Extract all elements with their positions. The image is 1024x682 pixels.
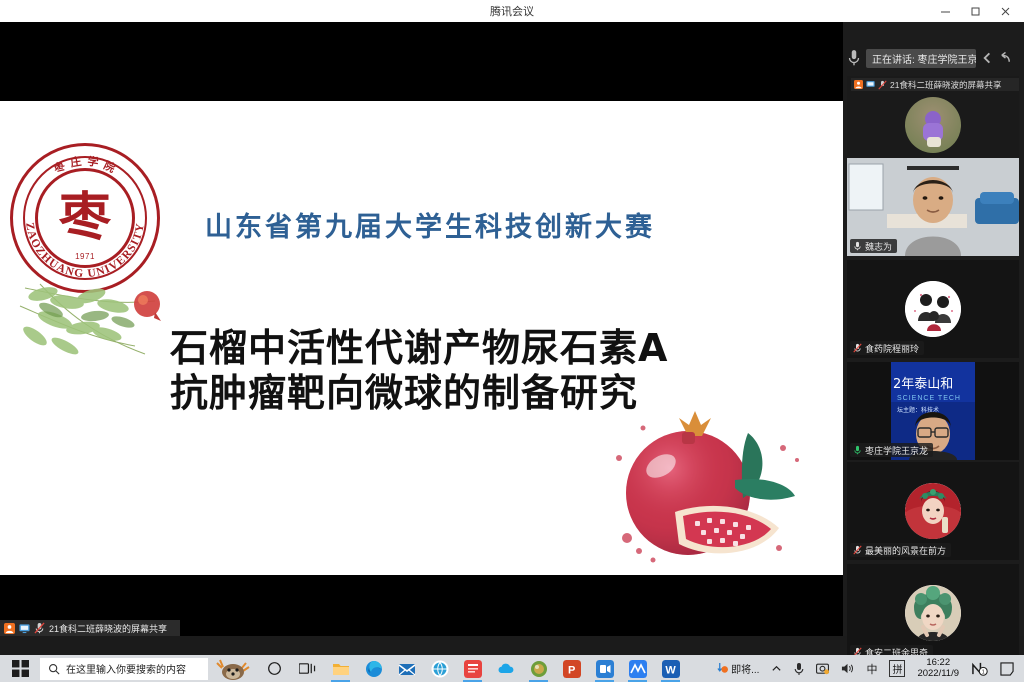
participant-name: 食药院程丽玲	[865, 342, 919, 355]
window-title-bar: 腾讯会议	[0, 0, 1024, 22]
slide-title-line-1: 石榴中活性代谢产物尿石素A	[170, 326, 668, 371]
tray-notice-text: 即将...	[731, 661, 759, 676]
avatar	[905, 585, 961, 641]
network-icon: 1	[971, 661, 988, 676]
meeting-body: ZAOZHUANG UNIVERSITY 枣 庄 学 院 枣 1971	[0, 22, 1024, 636]
taskbar-app-wps-office[interactable]	[456, 655, 489, 682]
search-placeholder: 在这里输入你要搜索的内容	[66, 661, 186, 676]
system-tray: 即将...	[711, 655, 1024, 682]
slide-title-line-2: 抗肿瘤靶向微球的制备研究	[170, 371, 668, 416]
window-controls	[930, 0, 1020, 22]
taskbar-app-mail[interactable]	[390, 655, 423, 682]
foliage-decoration	[0, 276, 185, 391]
window-title: 腾讯会议	[0, 3, 1024, 19]
taskbar-app-wechat-work[interactable]	[621, 655, 654, 682]
presentation-slide: ZAOZHUANG UNIVERSITY 枣 庄 学 院 枣 1971	[0, 101, 843, 575]
microphone-icon	[853, 445, 862, 455]
screenshot-icon	[816, 662, 829, 675]
taskbar-app-file-explorer[interactable]	[324, 655, 357, 682]
arrow-back-icon[interactable]	[999, 50, 1012, 66]
slide-subtitle: 山东省第九届大学生科技创新大赛	[205, 205, 655, 244]
participant-nametag: 魏志为	[850, 239, 897, 253]
close-button[interactable]	[990, 0, 1020, 22]
participant-nametag: 最美丽的风景在前方	[850, 543, 951, 557]
stage-share-indicator: 21食科二班薛晓波的屏幕共享	[0, 620, 180, 636]
participant-tile-active[interactable]: 2年泰山和 SCIENCE TECH 坛主题：科技术	[847, 362, 1019, 460]
speaker-icon	[841, 662, 854, 675]
avatar	[905, 97, 961, 153]
windows-logo-icon	[12, 660, 29, 677]
microphone-muted-icon	[853, 545, 862, 555]
taskbar-app-photo-viewer[interactable]	[522, 655, 555, 682]
participant-tile[interactable]: 最美丽的风景在前方	[847, 462, 1019, 560]
chevron-up-icon	[771, 663, 782, 674]
minimize-button[interactable]	[930, 0, 960, 22]
participant-name: 魏志为	[865, 240, 892, 253]
taskbar-app-tencent-meeting[interactable]	[588, 655, 621, 682]
clock-time: 16:22	[926, 658, 950, 669]
tray-ime-mode[interactable]: 中	[860, 655, 883, 682]
tray-ime-pinyin-label: 拼	[889, 660, 905, 677]
microphone-icon	[847, 49, 861, 67]
active-speaker-bar: 正在讲话: 枣庄学院王京龙	[843, 44, 1024, 72]
participant-rail: 正在讲话: 枣庄学院王京龙	[843, 22, 1024, 636]
svg-text:SCIENCE TECH: SCIENCE TECH	[897, 395, 961, 402]
microphone-muted-icon	[878, 80, 887, 90]
tray-overflow-button[interactable]	[765, 655, 788, 682]
chevron-left-icon[interactable]	[981, 50, 994, 66]
participant-name: 枣庄学院王京龙	[865, 444, 928, 457]
pomegranate-illustration	[583, 388, 833, 573]
action-center-icon	[1000, 662, 1014, 676]
tray-microphone-button[interactable]	[788, 655, 810, 682]
shared-screen-stage[interactable]: ZAOZHUANG UNIVERSITY 枣 庄 学 院 枣 1971	[0, 22, 843, 636]
tray-action-center-button[interactable]	[994, 655, 1020, 682]
download-icon	[717, 662, 728, 675]
user-icon	[854, 80, 863, 89]
tray-ime-pinyin[interactable]: 拼	[883, 655, 911, 682]
slide-title: 石榴中活性代谢产物尿石素A 抗肿瘤靶向微球的制备研究	[170, 326, 668, 416]
taskbar-clock[interactable]: 16:22 2022/11/9	[911, 658, 965, 680]
participant-nametag: 枣庄学院王京龙	[850, 443, 933, 457]
windows-taskbar: 在这里输入你要搜索的内容	[0, 655, 1024, 682]
tray-network-button[interactable]: 1	[965, 655, 994, 682]
clock-date: 2022/11/9	[917, 669, 959, 680]
svg-text:2年泰山和: 2年泰山和	[893, 377, 953, 392]
participant-nametag: 食药院程丽玲	[850, 341, 924, 355]
tile-share-label: 21食科二班薛晓波的屏幕共享	[890, 79, 1001, 91]
cortana-icon[interactable]	[258, 655, 291, 682]
microphone-muted-icon	[34, 622, 45, 634]
avatar	[905, 483, 961, 539]
tile-share-bar: 21食科二班薛晓波的屏幕共享	[851, 78, 1019, 91]
search-icon	[48, 663, 60, 675]
monitor-icon	[19, 623, 30, 634]
svg-text:P: P	[568, 664, 575, 676]
meeting-window: 腾讯会议	[0, 0, 1024, 682]
active-speaker-label: 正在讲话: 枣庄学院王京龙	[866, 49, 976, 68]
participant-tile[interactable]: 食药院程丽玲	[847, 260, 1019, 358]
participant-tile[interactable]: 魏志为	[847, 158, 1019, 256]
monitor-icon	[866, 80, 875, 89]
taskbar-app-powerpoint[interactable]: P	[555, 655, 588, 682]
search-input[interactable]: 在这里输入你要搜索的内容	[40, 658, 208, 680]
task-view-icon[interactable]	[291, 655, 324, 682]
network-badge-count: 1	[982, 670, 985, 676]
user-icon	[4, 623, 15, 634]
svg-text:W: W	[665, 664, 676, 676]
maximize-button[interactable]	[960, 0, 990, 22]
taskbar-app-word[interactable]: W	[654, 655, 687, 682]
taskbar-app-browser-globe[interactable]	[423, 655, 456, 682]
participant-tile[interactable]: 食安二班余思奇	[847, 564, 1019, 662]
start-button[interactable]	[0, 655, 40, 682]
avatar	[905, 281, 961, 337]
microphone-icon	[794, 662, 804, 676]
hedgehog-widget-icon[interactable]	[208, 655, 258, 682]
logo-year: 1971	[10, 252, 160, 261]
tray-notice[interactable]: 即将...	[711, 655, 765, 682]
tray-screenshot-button[interactable]	[810, 655, 835, 682]
microphone-muted-icon	[853, 241, 862, 251]
taskbar-app-onedrive[interactable]	[489, 655, 522, 682]
university-logo: ZAOZHUANG UNIVERSITY 枣 庄 学 院 枣 1971	[10, 143, 160, 293]
taskbar-app-microsoft-edge[interactable]	[357, 655, 390, 682]
stage-share-label: 21食科二班薛晓波的屏幕共享	[49, 622, 167, 635]
microphone-muted-icon	[853, 343, 862, 353]
participant-name: 最美丽的风景在前方	[865, 544, 946, 557]
tray-volume-button[interactable]	[835, 655, 860, 682]
